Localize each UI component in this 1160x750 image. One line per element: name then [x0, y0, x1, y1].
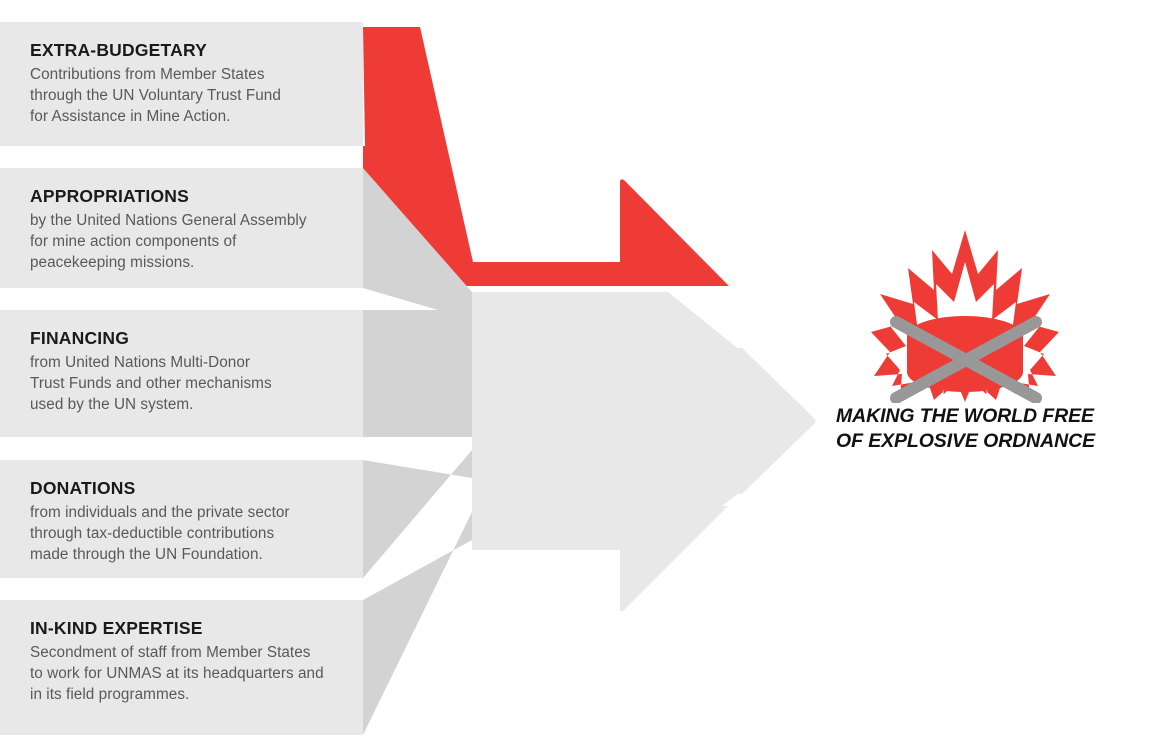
description-line: by the United Nations General Assembly — [30, 212, 307, 229]
explosion-mine-crossed-out-icon — [870, 228, 1060, 403]
flow-arrow-extra-budgetary — [363, 27, 729, 286]
flow-arrow-in-kind-expertise — [472, 506, 728, 611]
description-line: through tax-deductible contributions — [30, 525, 274, 542]
description-line: Trust Funds and other mechanisms — [30, 375, 272, 392]
funding-source-title: EXTRA-BUDGETARY — [30, 40, 341, 62]
funding-source-title: FINANCING — [30, 328, 341, 350]
funnel-wedge-appropriations — [363, 168, 472, 320]
flow-arrow-donations — [472, 474, 762, 550]
funding-source-block-in-kind-expertise[interactable]: IN-KIND EXPERTISE Secondment of staff fr… — [0, 600, 363, 735]
logo-tagline: MAKING THE WORLD FREE OF EXPLOSIVE ORDNA… — [836, 404, 1120, 454]
description-line: made through the UN Foundation. — [30, 546, 263, 563]
funding-source-description: from individuals and the private sector … — [30, 503, 341, 566]
description-line: peacekeeping missions. — [30, 254, 194, 271]
description-line: used by the UN system. — [30, 396, 193, 413]
description-line: Secondment of staff from Member States — [30, 644, 311, 661]
funding-source-title: APPROPRIATIONS — [30, 186, 341, 208]
description-line: from United Nations Multi-Donor — [30, 354, 250, 371]
funding-source-description: by the United Nations General Assembly f… — [30, 211, 341, 274]
funding-source-title: IN-KIND EXPERTISE — [30, 618, 341, 640]
description-line: in its field programmes. — [30, 686, 189, 703]
funnel-wedge-in-kind-expertise — [363, 512, 472, 735]
infographic-canvas: EXTRA-BUDGETARY Contributions from Membe… — [0, 0, 1160, 750]
funding-source-description: from United Nations Multi-Donor Trust Fu… — [30, 353, 341, 416]
unmas-logo: MAKING THE WORLD FREE OF EXPLOSIVE ORDNA… — [830, 228, 1120, 458]
flow-arrow-appropriations — [472, 292, 762, 368]
description-line: to work for UNMAS at its headquarters an… — [30, 665, 324, 682]
funding-source-description: Secondment of staff from Member States t… — [30, 643, 341, 706]
funding-source-block-financing[interactable]: FINANCING from United Nations Multi-Dono… — [0, 310, 363, 437]
funnel-wedge-financing — [363, 310, 472, 437]
tagline-line-2: OF EXPLOSIVE ORDNANCE — [836, 429, 1120, 454]
description-line: for mine action components of — [30, 233, 236, 250]
description-line: Contributions from Member States — [30, 66, 265, 83]
funnel-wedge-donations — [363, 450, 472, 578]
funding-source-block-appropriations[interactable]: APPROPRIATIONS by the United Nations Gen… — [0, 168, 363, 288]
funding-source-title: DONATIONS — [30, 478, 341, 500]
tagline-line-1: MAKING THE WORLD FREE — [836, 404, 1120, 429]
flow-arrow-financing — [472, 348, 816, 494]
funding-source-block-extra-budgetary[interactable]: EXTRA-BUDGETARY Contributions from Membe… — [0, 22, 363, 146]
funding-source-block-donations[interactable]: DONATIONS from individuals and the priva… — [0, 460, 363, 578]
funding-source-description: Contributions from Member States through… — [30, 65, 341, 128]
description-line: through the UN Voluntary Trust Fund — [30, 87, 281, 104]
description-line: for Assistance in Mine Action. — [30, 108, 230, 125]
description-line: from individuals and the private sector — [30, 504, 290, 521]
